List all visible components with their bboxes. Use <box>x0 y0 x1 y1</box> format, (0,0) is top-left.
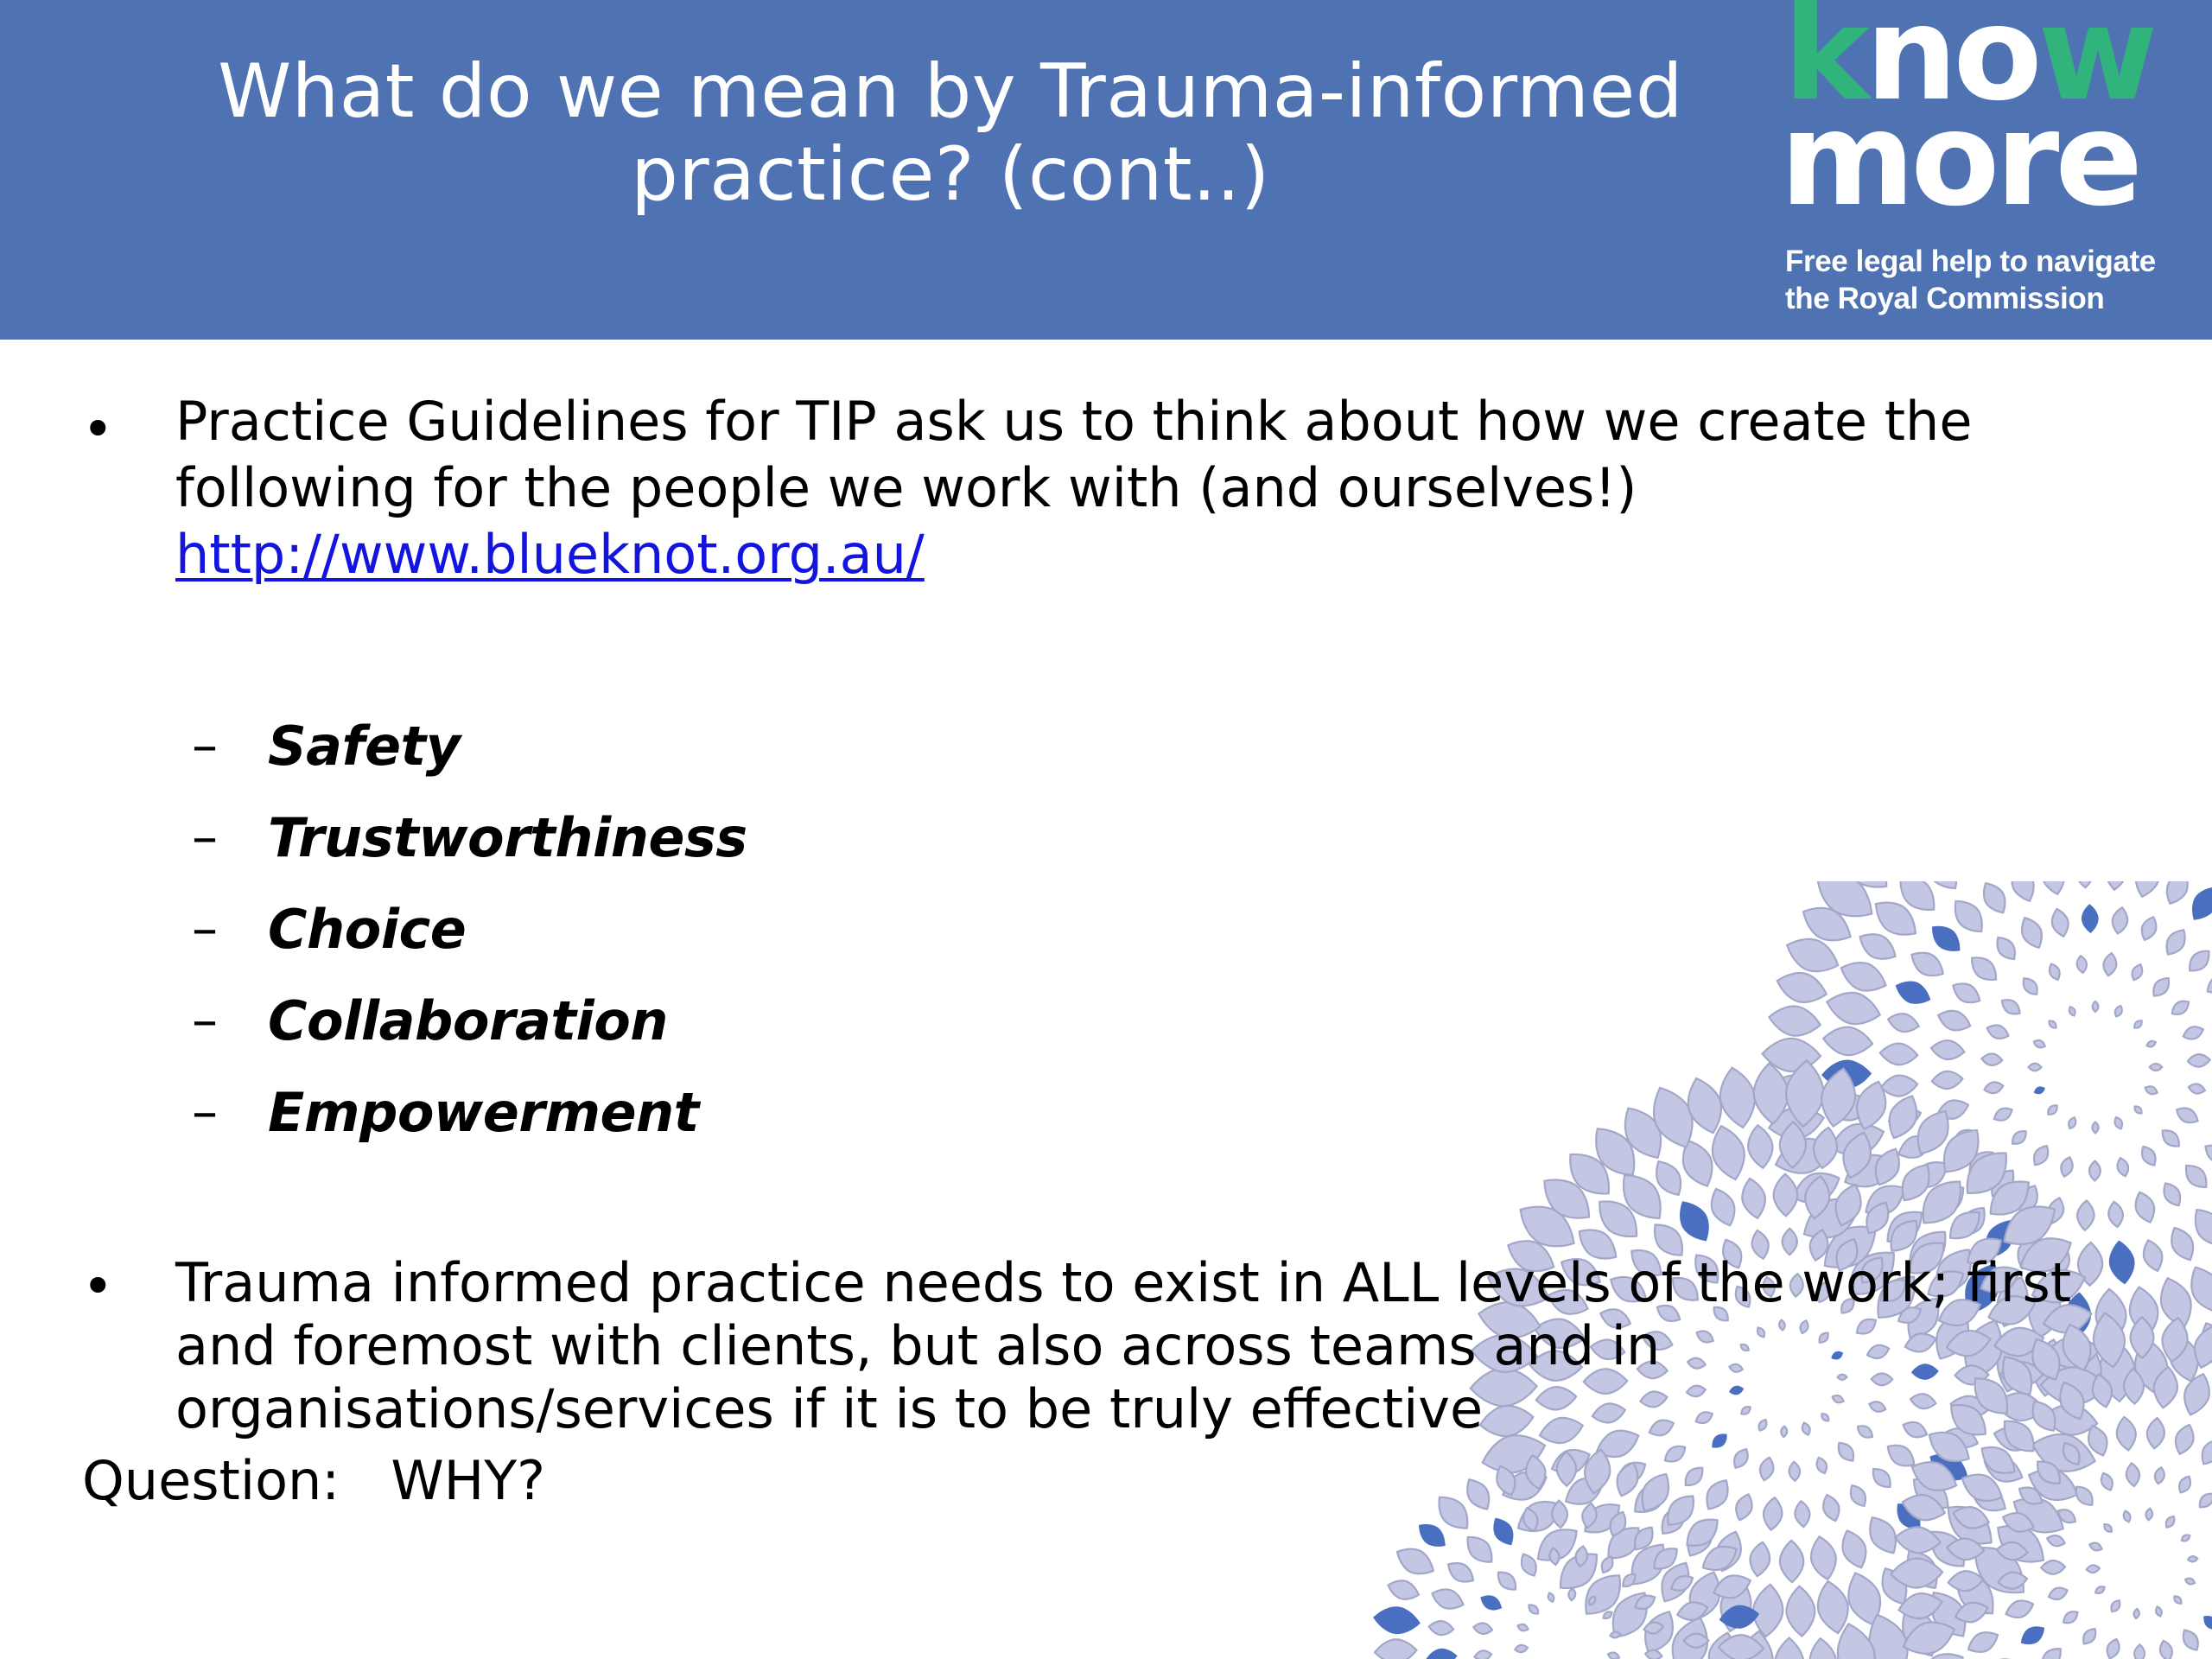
bullet-marker-icon: • <box>82 1260 156 1313</box>
dash-marker-icon: – <box>192 811 252 863</box>
paragraph-all-levels: Trauma informed practice needs to exist … <box>175 1251 2163 1440</box>
sub-item-label-safety: Safety <box>268 715 461 778</box>
dash-marker-icon: – <box>192 1086 252 1138</box>
bullet-item-practice-guidelines: • Practice Guidelines for TIP ask us to … <box>82 389 2095 588</box>
logo-word-more: more <box>1780 100 2139 219</box>
page-title: What do we mean by Trauma-informed pract… <box>121 50 1780 217</box>
logo-tagline: Free legal help to navigate the Royal Co… <box>1785 244 2191 317</box>
dash-marker-icon: – <box>192 720 252 772</box>
list-item: – Empowerment <box>192 1086 1402 1178</box>
slide-header-band: What do we mean by Trauma-informed pract… <box>0 0 2212 340</box>
sub-item-label-collaboration: Collaboration <box>268 989 668 1052</box>
list-item: – Trustworthiness <box>192 811 1402 903</box>
bullet-marker-icon: • <box>82 403 156 456</box>
dash-marker-icon: – <box>192 995 252 1046</box>
know-more-logo: know more Free legal help to navigate th… <box>1775 3 2205 332</box>
bullet-item-all-levels: • Trauma informed practice needs to exis… <box>82 1251 2156 1440</box>
paragraph-practice-guidelines: Practice Guidelines for TIP ask us to th… <box>175 389 2102 588</box>
list-item: – Safety <box>192 720 1402 811</box>
sub-item-label-choice: Choice <box>268 898 466 961</box>
sub-item-label-trustworthiness: Trustworthiness <box>268 806 747 869</box>
paragraph-practice-guidelines-text: Practice Guidelines for TIP ask us to th… <box>175 390 1972 519</box>
list-item: – Choice <box>192 903 1402 995</box>
sub-item-label-empowerment: Empowerment <box>268 1081 699 1144</box>
slide-body: • Practice Guidelines for TIP ask us to … <box>0 340 2212 1659</box>
list-item: – Collaboration <box>192 995 1402 1086</box>
blueknot-link[interactable]: http://www.blueknot.org.au/ <box>175 522 925 588</box>
dash-marker-icon: – <box>192 903 252 955</box>
question-line: Question: WHY? <box>82 1450 545 1511</box>
sub-bullet-list: – Safety – Trustworthiness – Choice – Co… <box>192 720 1402 1178</box>
